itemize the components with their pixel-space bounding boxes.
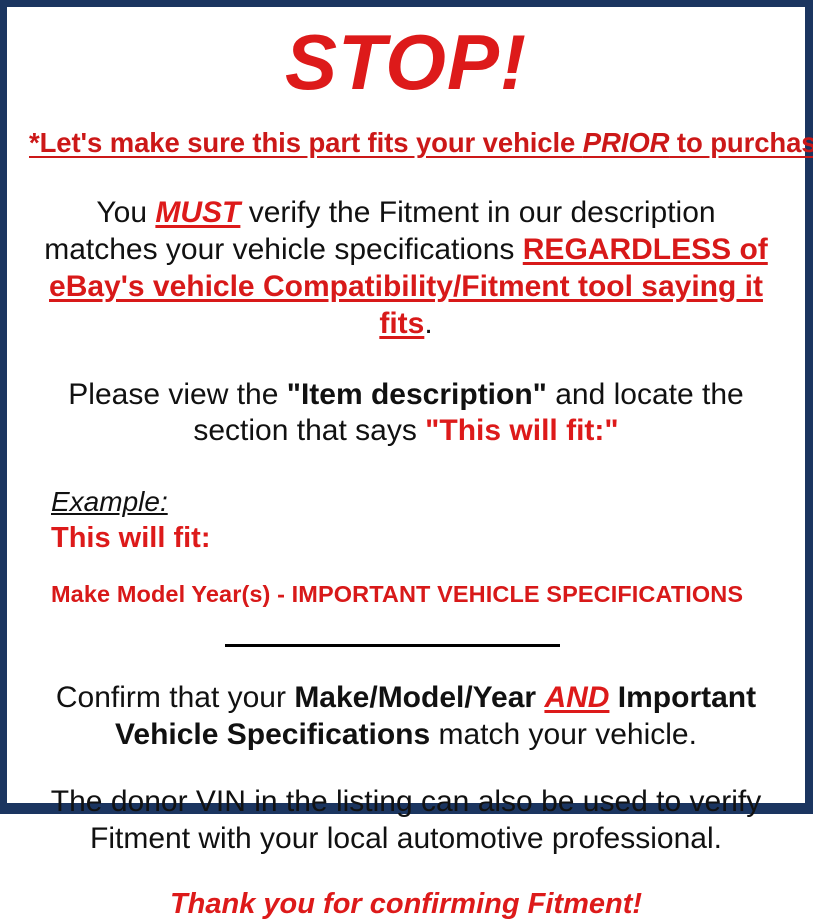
fitment-notice-card: STOP! *Let's make sure this part fits yo… xyxy=(0,0,813,814)
example-label: Example: xyxy=(51,486,783,518)
paragraph-confirm-match: Confirm that your Make/Model/Year AND Im… xyxy=(29,652,783,754)
confirm-space-2 xyxy=(609,681,617,714)
example-block: Example: This will fit: Make Model Year(… xyxy=(29,450,783,608)
divider-row xyxy=(29,608,783,652)
notice-content: STOP! *Let's make sure this part fits yo… xyxy=(7,7,805,803)
locate-text-part1: Please view the xyxy=(68,378,286,411)
paragraph-donor-vin: The donor VIN in the listing can also be… xyxy=(29,754,783,858)
horizontal-divider xyxy=(225,644,560,647)
verify-fitment-tagline: *Let's make sure this part fits your veh… xyxy=(29,101,783,159)
paragraph-locate-section: Please view the "Item description" and l… xyxy=(29,343,783,451)
must-text-part1: You xyxy=(96,196,155,229)
example-spec-line: Make Model Year(s) - IMPORTANT VEHICLE S… xyxy=(51,555,783,608)
thank-you-line: Thank you for confirming Fitment! xyxy=(29,858,783,921)
locate-red-this-will-fit: "This will fit:" xyxy=(425,414,618,447)
must-emphasis: MUST xyxy=(155,196,240,229)
stop-headline: STOP! xyxy=(29,7,783,101)
must-text-part3: . xyxy=(424,307,432,340)
locate-bold-item-description: "Item description" xyxy=(287,378,547,411)
tagline-emphasis-prior: PRIOR xyxy=(583,127,670,158)
tagline-text-before: *Let's make sure this part fits your veh… xyxy=(29,127,583,158)
confirm-emphasis-and: AND xyxy=(544,681,609,714)
paragraph-must-verify: You MUST verify the Fitment in our descr… xyxy=(29,159,783,343)
example-fit-heading: This will fit: xyxy=(51,518,783,555)
confirm-bold-make-model-year: Make/Model/Year xyxy=(294,681,536,714)
confirm-text-part1: Confirm that your xyxy=(56,681,294,714)
tagline-text-after: to purchasing* xyxy=(669,127,813,158)
confirm-text-part2: match your vehicle. xyxy=(430,718,697,751)
